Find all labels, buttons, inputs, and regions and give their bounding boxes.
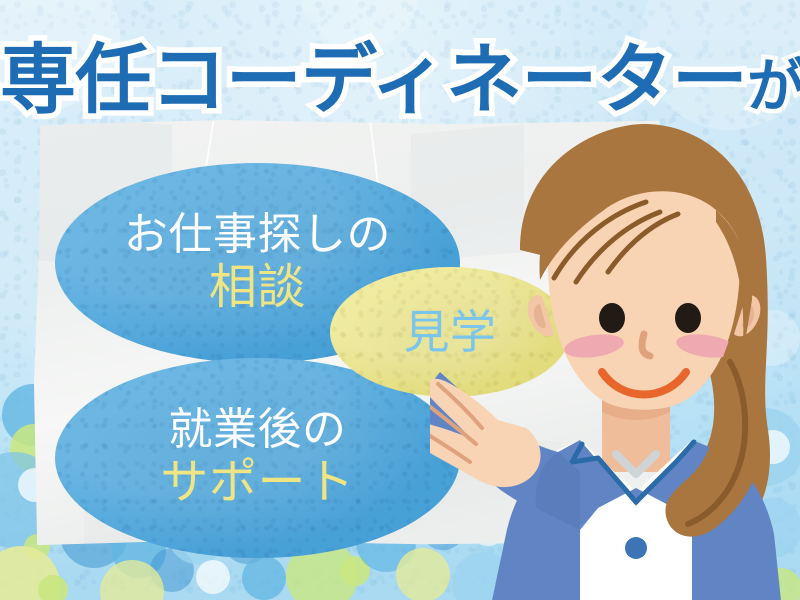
- headline-main-text: 専任コーディネーター: [0, 18, 747, 128]
- ellipse-consultation-line1: お仕事探しの: [124, 213, 391, 258]
- decorative-bubble: [196, 560, 230, 594]
- headline-tail-text: が: [747, 39, 800, 123]
- suit-button: [625, 537, 647, 559]
- headline: 専任コーディネーターが: [0, 18, 800, 128]
- hand: [430, 379, 541, 487]
- decorative-bubble: [38, 575, 68, 600]
- coordinator-woman-illustration: [430, 110, 800, 600]
- eye-right: [675, 303, 701, 333]
- ellipse-support-line1: 就業後の: [168, 408, 346, 453]
- eye-left: [599, 303, 625, 333]
- ellipse-consultation-line2: 相談: [209, 264, 306, 313]
- poster-canvas: お仕事探しの 相談 就業後の サポート 見学: [0, 0, 800, 600]
- decorative-bubble: [242, 556, 286, 600]
- ellipse-support-line2: サポート: [160, 459, 354, 508]
